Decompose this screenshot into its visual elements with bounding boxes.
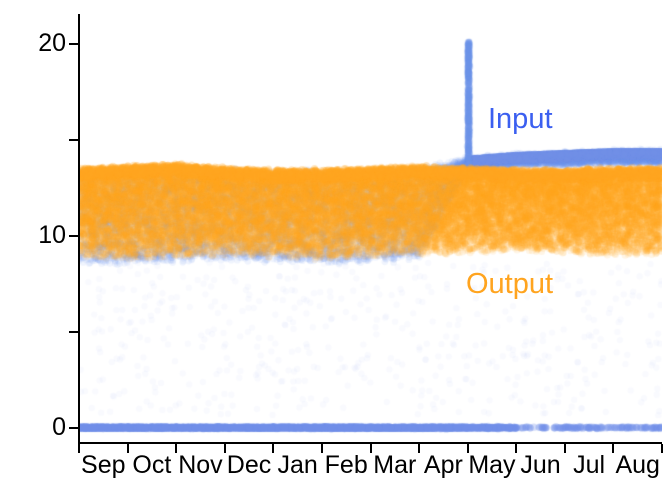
y-tick-label: 20: [0, 31, 66, 56]
x-tick-label: Aug: [606, 452, 670, 479]
y-tick-label: 10: [0, 223, 66, 248]
scatter-points-canvas: [79, 15, 662, 443]
plot-area: [79, 15, 662, 443]
series-label-output: Output: [466, 268, 553, 301]
y-tick-minor: [69, 139, 78, 141]
y-axis-line: [78, 14, 80, 444]
y-tick-label: 0: [0, 415, 66, 440]
y-tick-minor: [69, 331, 78, 333]
chart-figure: ΔT (°C) 01020 SepOctNovDecJanFebMarAprMa…: [0, 0, 672, 480]
y-tick-major: [69, 427, 78, 429]
y-tick-major: [69, 235, 78, 237]
y-tick-major: [69, 43, 78, 45]
series-label-input: Input: [488, 103, 553, 136]
